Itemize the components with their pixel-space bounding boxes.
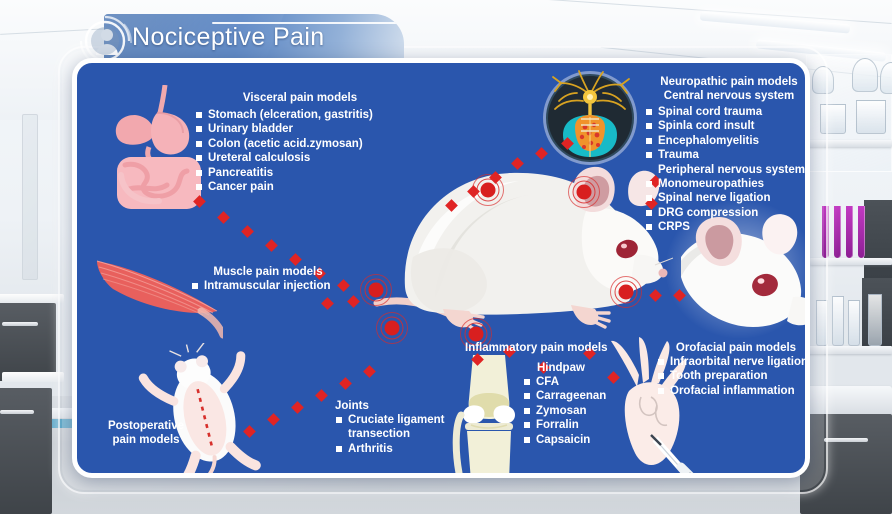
pain-marker-snout (609, 275, 643, 309)
connector-square (241, 225, 254, 238)
visceral-item: Ureteral calculosis (195, 151, 405, 165)
connector-square (289, 253, 302, 266)
inflammatory-item: Zymosan (523, 404, 643, 418)
pain-marker-flank (359, 273, 393, 307)
inflammatory-hindpaw-list: Hindpaw CFA Carrageenan Zymosan Forralin… (523, 361, 643, 447)
postoperative-heading-line2: pain models (85, 433, 207, 447)
neuropathic-central-item: Spinal cord trauma (645, 105, 810, 119)
supine-mouse-illustration (133, 343, 269, 478)
counter-top (2, 372, 64, 382)
visceral-item: Colon (acetic acid.zymosan) (195, 137, 405, 151)
neuropathic-central-item: Spinla cord insult (645, 119, 810, 133)
test-tube (834, 206, 841, 258)
cabinet-upper (0, 303, 56, 381)
neuropathic-peripheral-item: Monomeuropathies (645, 177, 810, 191)
neuropathic-peripheral-item: CRPS (645, 220, 810, 234)
joints-block: Joints Cruciate ligament transection Art… (335, 399, 445, 456)
inflammatory-heading: Inflammatory pain models (465, 341, 625, 355)
connector-square (363, 365, 376, 378)
orofacial-item: Infraorbital nerve ligation (657, 355, 810, 369)
glassware-beaker (820, 104, 846, 134)
muscle-pain-block: Muscle pain models Intramuscular injecti… (173, 265, 363, 293)
connector-square (315, 389, 328, 402)
neuropathic-peripheral-item: DRG compression (645, 206, 810, 220)
graduated-cylinder (816, 300, 828, 346)
pain-marker-back (471, 173, 505, 207)
neuropathic-heading: Neuropathic pain models (645, 75, 810, 89)
inflammatory-item: CFA (523, 375, 643, 389)
inflammatory-item: Carrageenan (523, 389, 643, 403)
connector-square (265, 239, 278, 252)
joints-item: Cruciate ligament transection (335, 413, 445, 442)
graduated-cylinder (868, 294, 882, 346)
title-bar: Nociceptive Pain (104, 14, 404, 60)
muscle-item: Intramuscular injection (191, 279, 363, 293)
connector-square (321, 297, 334, 310)
visceral-heading: Visceral pain models (195, 91, 405, 105)
bench-cabinet (800, 414, 892, 514)
visceral-item: Cancer pain (195, 180, 405, 194)
peripheral-nervous-subheading: Peripheral nervous system (645, 163, 810, 177)
orofacial-item: Orofacial inflammation (657, 384, 810, 398)
glassware-flask (880, 62, 892, 94)
pain-marker-head (567, 175, 601, 209)
neuropathic-central-item: Trauma (645, 148, 810, 162)
knee-joint-illustration (447, 355, 531, 478)
joints-heading: Joints (335, 399, 445, 413)
glassware-flask (812, 66, 834, 94)
orofacial-pain-block: Orofacial pain models Infraorbital nerve… (657, 341, 810, 398)
screenshot-root: Nociceptive Pain (0, 0, 892, 514)
pain-marker-hindlimb (375, 311, 409, 345)
graduated-cylinder (848, 300, 860, 346)
test-tube (822, 206, 829, 258)
muscle-heading: Muscle pain models (173, 265, 363, 279)
test-tube (846, 206, 853, 258)
postoperative-heading-line1: Postoperative (85, 419, 207, 433)
cabinet-handle (824, 438, 868, 442)
connector-square (339, 377, 352, 390)
page-title: Nociceptive Pain (132, 23, 325, 52)
connector-square (267, 413, 280, 426)
joints-item: Arthritis (335, 442, 445, 456)
visceral-pain-block: Visceral pain models Stomach (elceration… (195, 91, 405, 194)
neuropathic-peripheral-item: Spinal nerve ligation (645, 191, 810, 205)
cabinet-handle (0, 410, 34, 414)
cabinet-lower (0, 388, 52, 514)
counter-top (0, 294, 64, 303)
connector-square (291, 401, 304, 414)
neuropathic-central-item: Encephalomyelitis (645, 134, 810, 148)
neuropathic-pain-block: Neuropathic pain models Central nervous … (645, 75, 810, 235)
visceral-item: Pancreatitis (195, 166, 405, 180)
orofacial-item: Tooth preparation (657, 369, 810, 383)
test-tube (858, 206, 865, 258)
graduated-cylinder (832, 296, 844, 346)
orofacial-heading: Orofacial pain models (657, 341, 810, 355)
diagram-panel: Visceral pain models Stomach (elceration… (72, 58, 810, 478)
visceral-item: Urinary bladder (195, 122, 405, 136)
spinal-cord-neuron-inset (541, 69, 639, 167)
glassware-flask (852, 58, 878, 92)
shelf-backing (864, 200, 892, 282)
inflammatory-item: Capsaicin (523, 433, 643, 447)
shelf (806, 346, 892, 354)
cabinet-handle (2, 322, 38, 326)
hindpaw-subheading: Hindpaw (523, 361, 643, 375)
inflammatory-pain-block: Inflammatory pain models (465, 341, 625, 355)
bench-top (800, 386, 892, 414)
connector-square (217, 211, 230, 224)
shelf (810, 258, 892, 265)
central-nervous-subheading: Central nervous system (645, 89, 810, 103)
inflammatory-item: Forralin (523, 418, 643, 432)
glassware-beaker (856, 100, 886, 134)
postoperative-pain-block: Postoperative pain models (85, 419, 207, 447)
wall-door-panel (22, 114, 38, 280)
visceral-item: Stomach (elceration, gastritis) (195, 108, 405, 122)
